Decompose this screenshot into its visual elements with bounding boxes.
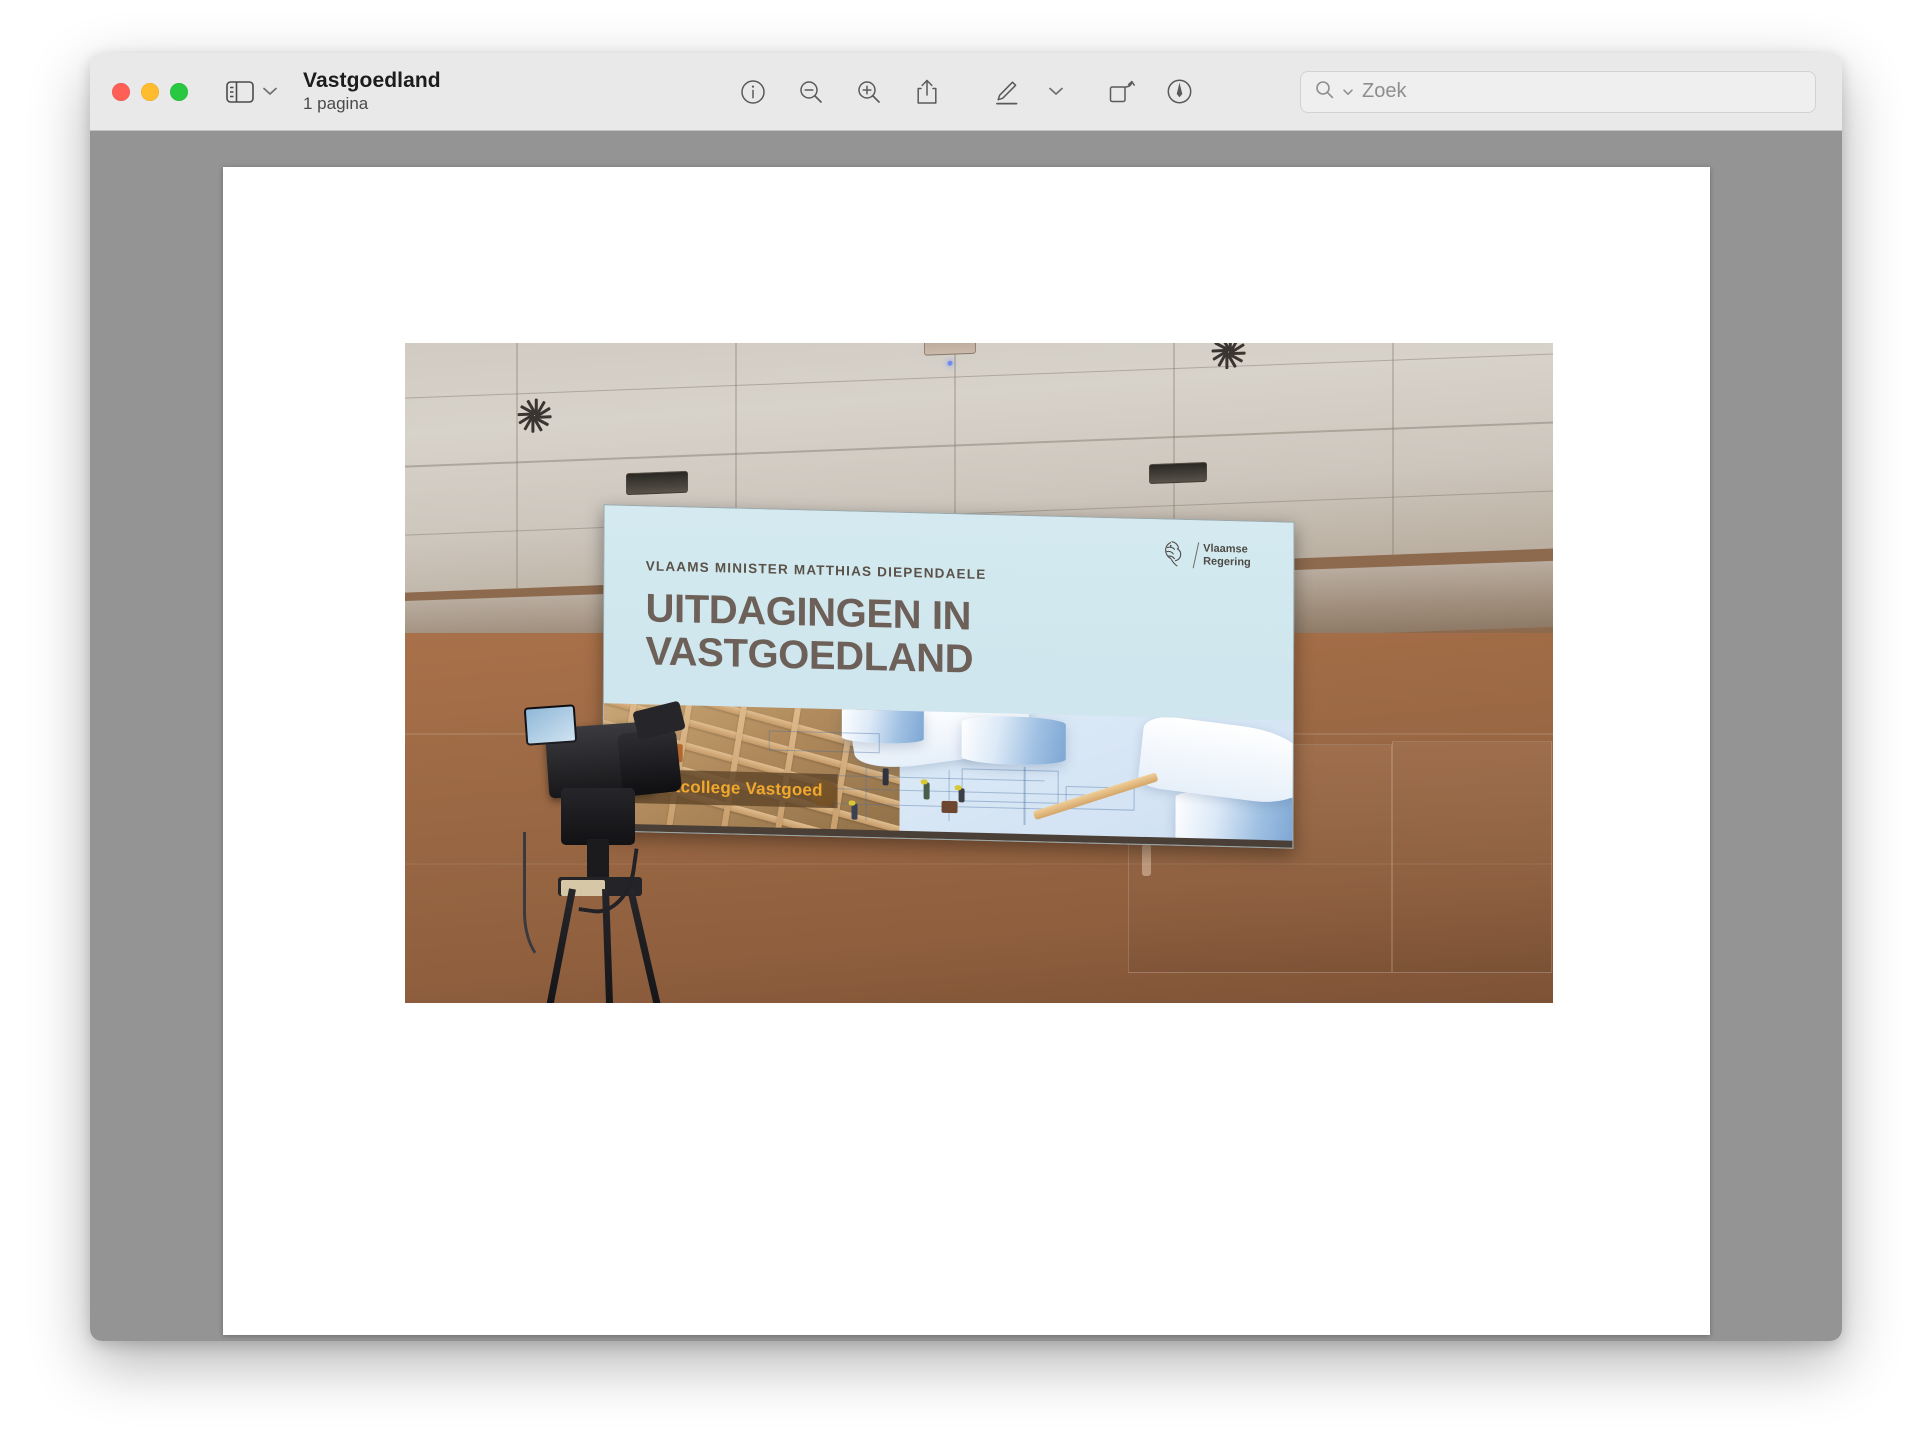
slide-header: VLAAMS MINISTER MATTHIAS DIEPENDAELE UIT… <box>604 506 1294 721</box>
search-icon <box>1315 80 1334 104</box>
camera-lens-hood <box>632 700 685 739</box>
traffic-lights <box>112 83 188 101</box>
page-title: Vastgoedland <box>303 68 441 94</box>
minimize-button[interactable] <box>141 83 159 101</box>
video-camera-tripod <box>514 699 698 1003</box>
zoom-out-icon[interactable] <box>782 68 840 116</box>
sidebar-icon[interactable] <box>226 81 254 103</box>
maximize-button[interactable] <box>170 83 188 101</box>
ceiling-light-fixture <box>626 471 688 495</box>
ceiling-projector <box>1149 461 1207 483</box>
preview-window: Vastgoedland 1 pagina <box>90 53 1842 1341</box>
worker-figure <box>921 779 928 784</box>
toolbar-right: Zoek <box>1300 71 1816 113</box>
worker-figure <box>848 800 855 805</box>
annotate-circle-icon[interactable] <box>1150 68 1208 116</box>
close-button[interactable] <box>112 83 130 101</box>
tripod-leg <box>628 889 665 1003</box>
blueprint-sheet-2 <box>1138 714 1293 808</box>
vlaamse-regering-logo: Vlaamse Regering <box>1162 539 1251 571</box>
wall-door-panel-right <box>1392 741 1553 974</box>
search-chevron-down-icon[interactable] <box>1343 83 1353 101</box>
lecture-hall-photo: VLAAMS MINISTER MATTHIAS DIEPENDAELE UIT… <box>405 343 1553 1003</box>
markup-chevron-down-icon[interactable] <box>1036 68 1076 116</box>
search-input[interactable]: Zoek <box>1300 71 1816 113</box>
document-title-block: Vastgoedland 1 pagina <box>303 68 441 114</box>
document-canvas[interactable]: VLAAMS MINISTER MATTHIAS DIEPENDAELE UIT… <box>90 131 1842 1341</box>
info-icon[interactable] <box>724 68 782 116</box>
tripod-head <box>561 788 634 845</box>
pdf-page: VLAAMS MINISTER MATTHIAS DIEPENDAELE UIT… <box>223 167 1710 1335</box>
window-toolbar: Vastgoedland 1 pagina <box>90 53 1842 131</box>
chevron-down-icon[interactable] <box>263 87 277 96</box>
blueprint-roll-2 <box>962 715 1066 766</box>
camera-cable <box>523 832 571 965</box>
projection-screen: VLAAMS MINISTER MATTHIAS DIEPENDAELE UIT… <box>603 505 1295 849</box>
camera-lcd-screen <box>523 704 577 746</box>
toolbar-tools <box>724 68 1208 116</box>
logo-text: Vlaamse Regering <box>1203 543 1251 570</box>
markup-pen-icon[interactable] <box>978 68 1036 116</box>
worker-figure <box>959 789 965 803</box>
logo-line-1: Vlaamse <box>1203 543 1251 557</box>
logo-line-2: Regering <box>1203 556 1251 570</box>
camera-lens <box>617 728 682 797</box>
flemish-lion-icon <box>1162 539 1188 570</box>
ceiling-sensor <box>924 343 976 356</box>
rotate-left-icon[interactable] <box>1092 68 1150 116</box>
zoom-in-icon[interactable] <box>840 68 898 116</box>
search-placeholder: Zoek <box>1362 80 1406 103</box>
toolbox <box>941 801 957 813</box>
page-count-label: 1 pagina <box>303 94 441 115</box>
door-handle <box>1142 844 1151 876</box>
worker-figure <box>852 804 858 820</box>
logo-divider <box>1192 542 1199 568</box>
worker-figure <box>924 783 930 800</box>
sidebar-toggle-group[interactable] <box>226 81 277 103</box>
presentation-slide: VLAAMS MINISTER MATTHIAS DIEPENDAELE UIT… <box>604 506 1294 848</box>
share-icon[interactable] <box>898 68 956 116</box>
slide-title: UITDAGINGEN IN VASTGOEDLAND <box>645 587 1252 689</box>
worker-figure <box>883 769 889 786</box>
